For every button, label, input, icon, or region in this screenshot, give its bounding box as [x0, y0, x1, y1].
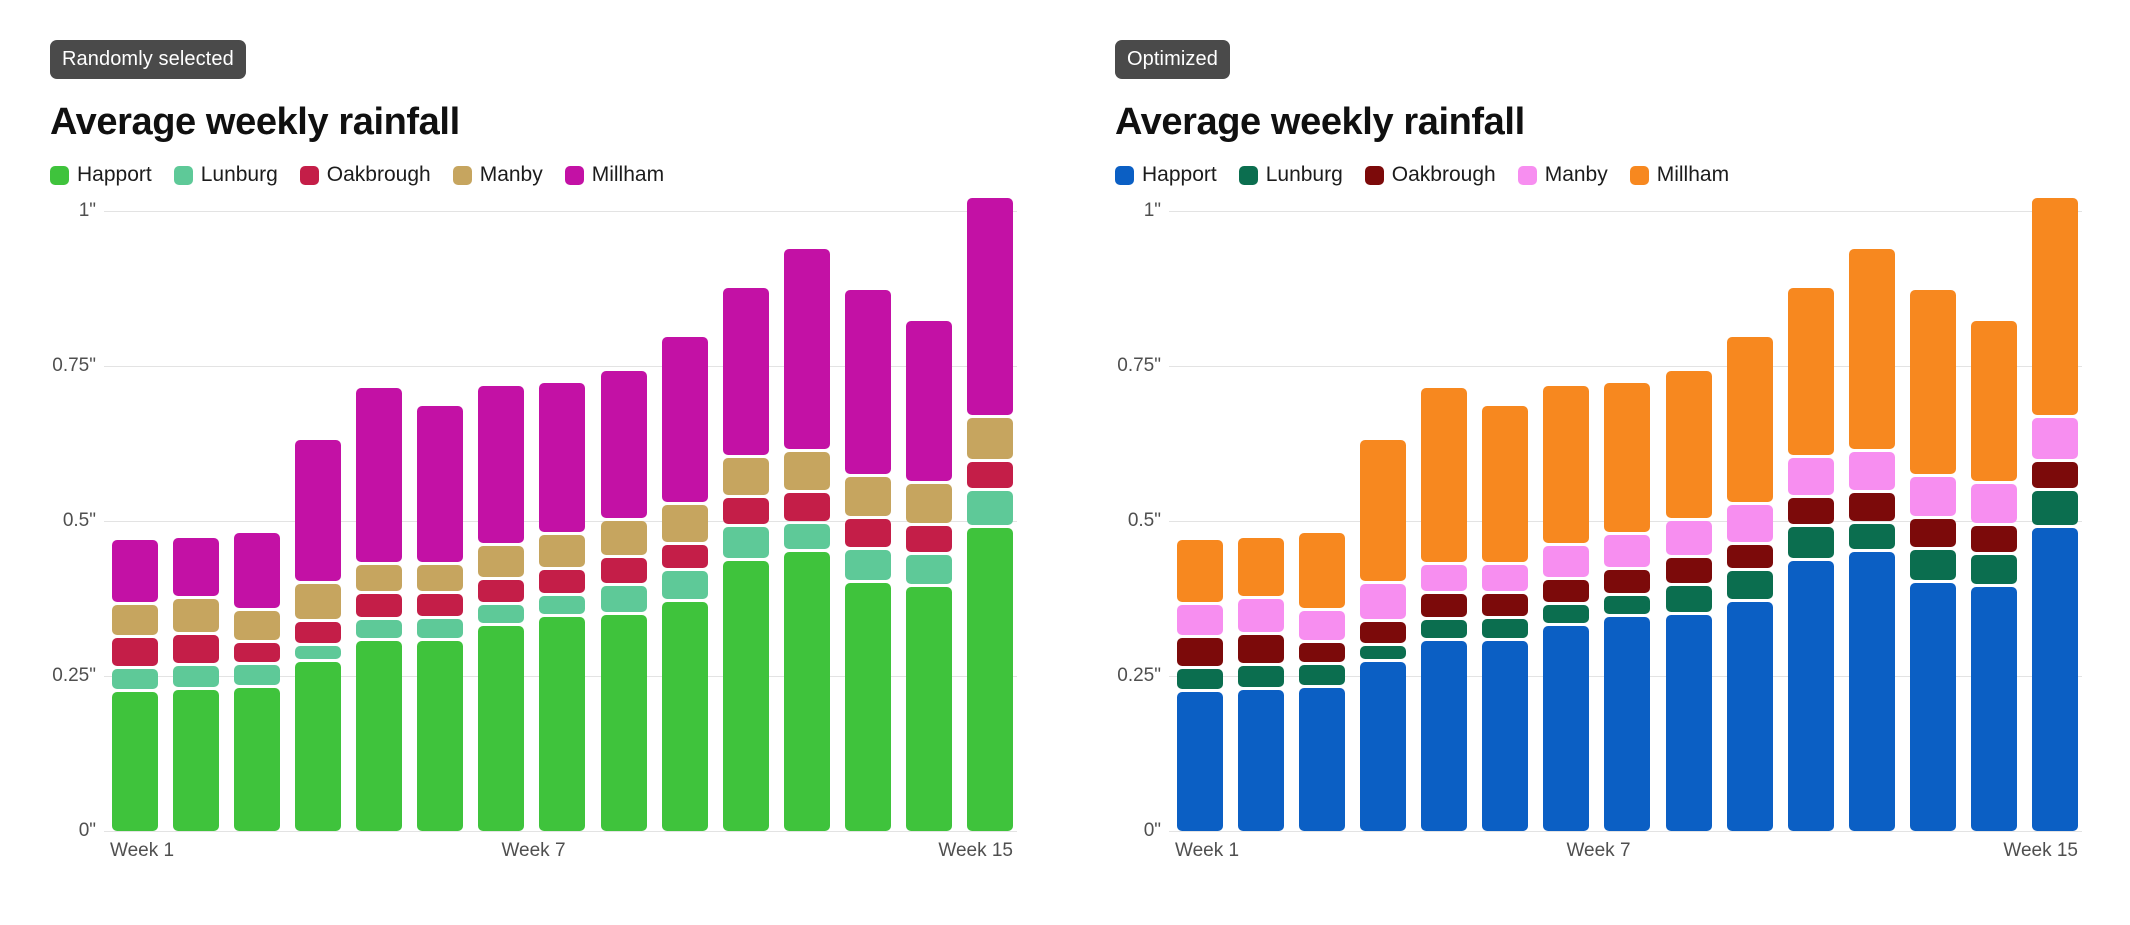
legend-item-label: Happort — [77, 163, 152, 187]
bar-segment-lunburg[interactable] — [1482, 619, 1528, 638]
bar-segment-oakbrough[interactable] — [1421, 594, 1467, 617]
bar-segment-lunburg[interactable] — [1666, 586, 1712, 612]
bar-segment-oakbrough[interactable] — [2032, 462, 2078, 488]
bar-segment-manby[interactable] — [1421, 565, 1467, 591]
bar-segment-manby[interactable] — [1299, 611, 1345, 641]
legend-swatch-icon — [1115, 166, 1134, 185]
bar-segment-happort[interactable] — [967, 528, 1013, 831]
x-axis-right: Week 1Week 7Week 15 — [1115, 840, 2082, 870]
bar-segment-oakbrough[interactable] — [1543, 580, 1589, 602]
bar-segment-lunburg[interactable] — [1299, 665, 1345, 685]
bar-stack[interactable] — [723, 288, 769, 831]
legend-item-millham[interactable]: Millham — [1630, 163, 1729, 187]
legend-swatch-icon — [1630, 166, 1649, 185]
legend-item-label: Manby — [1545, 163, 1608, 187]
legend-item-manby[interactable]: Manby — [453, 163, 543, 187]
bars-left — [106, 211, 1017, 831]
bar-segment-happort[interactable] — [1666, 615, 1712, 831]
chart-legend-right: HapportLunburgOakbroughManbyMillham — [1115, 163, 2082, 187]
bar-segment-millham[interactable] — [1666, 371, 1712, 518]
legend-item-lunburg[interactable]: Lunburg — [174, 163, 278, 187]
bar-segment-happort[interactable] — [1482, 641, 1528, 831]
bar-segment-millham[interactable] — [1299, 533, 1345, 607]
y-axis-tick-label: 1" — [50, 200, 96, 222]
bar-segment-oakbrough[interactable] — [356, 594, 402, 617]
bar-segment-happort[interactable] — [478, 626, 524, 831]
bar-segment-happort[interactable] — [1421, 641, 1467, 831]
bar-segment-happort[interactable] — [417, 641, 463, 831]
bar-segment-happort[interactable] — [1299, 688, 1345, 831]
bar-segment-lunburg[interactable] — [112, 669, 158, 689]
bar-segment-oakbrough[interactable] — [1727, 545, 1773, 568]
bar-segment-manby[interactable] — [1666, 521, 1712, 555]
bar-segment-lunburg[interactable] — [1849, 524, 1895, 549]
bar-segment-millham[interactable] — [173, 538, 219, 596]
bar-segment-lunburg[interactable] — [539, 596, 585, 615]
bar-segment-manby[interactable] — [723, 458, 769, 495]
legend-item-millham[interactable]: Millham — [565, 163, 664, 187]
bar-stack[interactable] — [1910, 290, 1956, 831]
bar-segment-oakbrough[interactable] — [295, 622, 341, 642]
bar-segment-oakbrough[interactable] — [417, 594, 463, 616]
bar-stack[interactable] — [173, 538, 219, 831]
y-axis-tick-label: 0.25" — [1115, 665, 1161, 687]
bar-segment-lunburg[interactable] — [967, 491, 1013, 525]
bar-segment-manby[interactable] — [1482, 565, 1528, 591]
bar-segment-happort[interactable] — [295, 662, 341, 831]
legend-item-label: Millham — [592, 163, 664, 187]
y-axis-tick-label: 0" — [1115, 820, 1161, 842]
bar-segment-millham[interactable] — [1910, 290, 1956, 474]
bar-segment-happort[interactable] — [2032, 528, 2078, 831]
bar-segment-manby[interactable] — [1727, 505, 1773, 542]
bar-stack[interactable] — [112, 540, 158, 831]
legend-item-happort[interactable]: Happort — [1115, 163, 1217, 187]
y-axis-tick-label: 0.5" — [50, 510, 96, 532]
x-axis-tick-label: Week 1 — [110, 840, 174, 862]
legend-item-label: Millham — [1657, 163, 1729, 187]
x-axis-tick-label: Week 7 — [1566, 840, 1630, 862]
legend-swatch-icon — [300, 166, 319, 185]
legend-item-happort[interactable]: Happort — [50, 163, 152, 187]
bar-segment-oakbrough[interactable] — [784, 493, 830, 521]
bar-segment-millham[interactable] — [295, 440, 341, 581]
bar-segment-manby[interactable] — [1360, 584, 1406, 619]
bar-segment-millham[interactable] — [1543, 386, 1589, 542]
bar-segment-millham[interactable] — [234, 533, 280, 607]
bar-segment-happort[interactable] — [906, 587, 952, 831]
bar-segment-millham[interactable] — [1849, 249, 1895, 449]
panel-randomly-selected: Randomly selected Average weekly rainfal… — [0, 0, 1065, 925]
bar-segment-lunburg[interactable] — [417, 619, 463, 638]
bar-segment-oakbrough[interactable] — [539, 570, 585, 592]
y-axis-tick-label: 0" — [50, 820, 96, 842]
legend-swatch-icon — [1239, 166, 1258, 185]
bar-segment-millham[interactable] — [784, 249, 830, 449]
bar-segment-manby[interactable] — [478, 546, 524, 577]
bar-stack[interactable] — [1727, 337, 1773, 831]
bar-segment-lunburg[interactable] — [784, 524, 830, 549]
bar-segment-oakbrough[interactable] — [1788, 498, 1834, 524]
bar-stack[interactable] — [845, 290, 891, 831]
bar-stack[interactable] — [1849, 249, 1895, 831]
bar-segment-oakbrough[interactable] — [1238, 635, 1284, 664]
bar-segment-millham[interactable] — [356, 388, 402, 562]
bar-segment-lunburg[interactable] — [845, 550, 891, 580]
bar-stack[interactable] — [234, 533, 280, 831]
x-axis-tick-label: Week 15 — [938, 840, 1013, 862]
bar-segment-happort[interactable] — [784, 552, 830, 831]
bar-segment-lunburg[interactable] — [295, 646, 341, 660]
bar-segment-manby[interactable] — [112, 605, 158, 635]
bar-segment-lunburg[interactable] — [234, 665, 280, 685]
bar-segment-manby[interactable] — [784, 452, 830, 490]
bar-segment-manby[interactable] — [1238, 599, 1284, 631]
bar-segment-lunburg[interactable] — [1177, 669, 1223, 689]
bar-segment-lunburg[interactable] — [1604, 596, 1650, 615]
bar-segment-lunburg[interactable] — [173, 666, 219, 686]
bar-segment-lunburg[interactable] — [1360, 646, 1406, 660]
legend-item-label: Oakbrough — [1392, 163, 1496, 187]
panel-optimized: Optimized Average weekly rainfall Happor… — [1065, 0, 2130, 925]
bar-stack[interactable] — [906, 321, 952, 831]
bar-segment-oakbrough[interactable] — [1360, 622, 1406, 642]
bar-segment-happort[interactable] — [1177, 692, 1223, 832]
bar-segment-lunburg[interactable] — [723, 527, 769, 558]
bar-segment-manby[interactable] — [967, 418, 1013, 459]
x-axis-left: Week 1Week 7Week 15 — [50, 840, 1017, 870]
bar-segment-lunburg[interactable] — [1727, 571, 1773, 599]
bar-segment-oakbrough[interactable] — [845, 519, 891, 547]
bar-segment-lunburg[interactable] — [1910, 550, 1956, 580]
bar-segment-manby[interactable] — [173, 599, 219, 631]
bar-segment-happort[interactable] — [662, 602, 708, 831]
bar-segment-oakbrough[interactable] — [1849, 493, 1895, 521]
bar-segment-happort[interactable] — [1788, 561, 1834, 831]
bar-segment-happort[interactable] — [1849, 552, 1895, 831]
bar-segment-lunburg[interactable] — [478, 605, 524, 624]
bar-segment-manby[interactable] — [906, 484, 952, 522]
bar-segment-happort[interactable] — [601, 615, 647, 831]
bar-segment-oakbrough[interactable] — [1971, 526, 2017, 552]
bar-segment-millham[interactable] — [906, 321, 952, 481]
legend-swatch-icon — [1365, 166, 1384, 185]
legend-swatch-icon — [453, 166, 472, 185]
legend-item-label: Happort — [1142, 163, 1217, 187]
bar-stack[interactable] — [417, 406, 463, 832]
legend-item-label: Manby — [480, 163, 543, 187]
bar-segment-millham[interactable] — [967, 198, 1013, 415]
legend-swatch-icon — [50, 166, 69, 185]
x-axis-tick-label: Week 1 — [1175, 840, 1239, 862]
bar-segment-happort[interactable] — [234, 688, 280, 831]
x-axis-tick-label: Week 7 — [501, 840, 565, 862]
bar-stack[interactable] — [1299, 533, 1345, 831]
legend-item-oakbrough[interactable]: Oakbrough — [300, 163, 431, 187]
bar-stack[interactable] — [1177, 540, 1223, 831]
bar-segment-lunburg[interactable] — [1238, 666, 1284, 686]
bar-segment-oakbrough[interactable] — [173, 635, 219, 664]
bar-stack[interactable] — [1482, 406, 1528, 832]
bar-segment-millham[interactable] — [723, 288, 769, 455]
bar-segment-oakbrough[interactable] — [1299, 643, 1345, 662]
bar-segment-happort[interactable] — [1238, 690, 1284, 831]
bar-segment-millham[interactable] — [2032, 198, 2078, 415]
bar-segment-manby[interactable] — [1971, 484, 2017, 522]
bar-segment-lunburg[interactable] — [906, 555, 952, 585]
bar-segment-manby[interactable] — [601, 521, 647, 555]
gridline — [1169, 831, 2082, 832]
legend-swatch-icon — [1518, 166, 1537, 185]
bar-segment-oakbrough[interactable] — [478, 580, 524, 602]
bar-stack[interactable] — [784, 249, 830, 831]
bar-segment-oakbrough[interactable] — [1604, 570, 1650, 592]
legend-item-label: Oakbrough — [327, 163, 431, 187]
y-axis-tick-label: 0.75" — [1115, 355, 1161, 377]
bar-stack[interactable] — [539, 383, 585, 831]
bar-stack[interactable] — [478, 386, 524, 831]
legend-item-label: Lunburg — [1266, 163, 1343, 187]
legend-swatch-icon — [565, 166, 584, 185]
y-axis-tick-label: 0.5" — [1115, 510, 1161, 532]
bar-segment-manby[interactable] — [356, 565, 402, 591]
bar-segment-millham[interactable] — [1971, 321, 2017, 481]
bar-stack[interactable] — [1604, 383, 1650, 831]
bar-stack[interactable] — [1360, 440, 1406, 831]
bar-stack[interactable] — [1788, 288, 1834, 831]
legend-swatch-icon — [174, 166, 193, 185]
bar-segment-millham[interactable] — [112, 540, 158, 602]
bar-segment-oakbrough[interactable] — [1482, 594, 1528, 616]
bar-stack[interactable] — [1238, 538, 1284, 831]
legend-item-label: Lunburg — [201, 163, 278, 187]
bar-segment-manby[interactable] — [295, 584, 341, 619]
bar-stack[interactable] — [295, 440, 341, 831]
chart-plot-area-left: 0"0.25"0.5"0.75"1" — [50, 211, 1017, 831]
chart-plot-area-right: 0"0.25"0.5"0.75"1" — [1115, 211, 2082, 831]
legend-item-oakbrough[interactable]: Oakbrough — [1365, 163, 1496, 187]
x-axis-tick-label: Week 15 — [2003, 840, 2078, 862]
bar-segment-happort[interactable] — [1360, 662, 1406, 831]
y-axis-tick-label: 1" — [1115, 200, 1161, 222]
bar-segment-happort[interactable] — [1543, 626, 1589, 831]
legend-item-manby[interactable]: Manby — [1518, 163, 1608, 187]
bar-segment-manby[interactable] — [1788, 458, 1834, 495]
bar-segment-happort[interactable] — [112, 692, 158, 832]
bar-segment-millham[interactable] — [539, 383, 585, 532]
bar-segment-happort[interactable] — [356, 641, 402, 831]
bar-segment-manby[interactable] — [539, 535, 585, 567]
bar-segment-manby[interactable] — [234, 611, 280, 641]
gridline — [104, 831, 1017, 832]
bar-segment-lunburg[interactable] — [601, 586, 647, 612]
bar-segment-millham[interactable] — [1421, 388, 1467, 562]
bar-segment-millham[interactable] — [1604, 383, 1650, 532]
bar-segment-millham[interactable] — [1177, 540, 1223, 602]
page-title-right: Average weekly rainfall — [1115, 101, 2082, 144]
bar-stack[interactable] — [1666, 371, 1712, 831]
bar-segment-millham[interactable] — [601, 371, 647, 518]
bar-segment-oakbrough[interactable] — [662, 545, 708, 568]
bars-right — [1171, 211, 2082, 831]
bar-segment-oakbrough[interactable] — [1177, 638, 1223, 666]
bar-segment-manby[interactable] — [1910, 477, 1956, 516]
bar-segment-oakbrough[interactable] — [967, 462, 1013, 488]
bar-segment-millham[interactable] — [1482, 406, 1528, 562]
variant-badge-left: Randomly selected — [50, 40, 246, 79]
bar-segment-oakbrough[interactable] — [1910, 519, 1956, 547]
bar-segment-manby[interactable] — [2032, 418, 2078, 459]
bar-segment-millham[interactable] — [845, 290, 891, 474]
bar-segment-millham[interactable] — [1727, 337, 1773, 501]
bar-segment-manby[interactable] — [417, 565, 463, 591]
bar-stack[interactable] — [601, 371, 647, 831]
bar-segment-millham[interactable] — [662, 337, 708, 501]
bar-segment-oakbrough[interactable] — [234, 643, 280, 662]
bar-stack[interactable] — [662, 337, 708, 831]
y-axis-tick-label: 0.75" — [50, 355, 96, 377]
bar-segment-happort[interactable] — [539, 617, 585, 831]
bar-stack[interactable] — [1543, 386, 1589, 831]
bar-stack[interactable] — [967, 198, 1013, 831]
bar-stack[interactable] — [356, 388, 402, 831]
bar-segment-lunburg[interactable] — [356, 620, 402, 637]
bar-segment-oakbrough[interactable] — [601, 558, 647, 583]
bar-segment-lunburg[interactable] — [1543, 605, 1589, 624]
y-axis-tick-label: 0.25" — [50, 665, 96, 687]
bar-stack[interactable] — [1971, 321, 2017, 831]
bar-segment-happort[interactable] — [1971, 587, 2017, 831]
bar-segment-oakbrough[interactable] — [1666, 558, 1712, 583]
bar-segment-oakbrough[interactable] — [723, 498, 769, 524]
bar-segment-lunburg[interactable] — [1788, 527, 1834, 558]
bar-segment-manby[interactable] — [1849, 452, 1895, 490]
bar-segment-millham[interactable] — [1360, 440, 1406, 581]
bar-segment-millham[interactable] — [1238, 538, 1284, 596]
chart-legend-left: HapportLunburgOakbroughManbyMillham — [50, 163, 1017, 187]
dual-chart-comparison: Randomly selected Average weekly rainfal… — [0, 0, 2130, 925]
bar-segment-happort[interactable] — [845, 583, 891, 831]
bar-stack[interactable] — [2032, 198, 2078, 831]
bar-segment-manby[interactable] — [662, 505, 708, 542]
legend-item-lunburg[interactable]: Lunburg — [1239, 163, 1343, 187]
bar-segment-happort[interactable] — [1910, 583, 1956, 831]
bar-segment-manby[interactable] — [1604, 535, 1650, 567]
bar-segment-happort[interactable] — [1727, 602, 1773, 831]
bar-segment-millham[interactable] — [478, 386, 524, 542]
page-title-left: Average weekly rainfall — [50, 101, 1017, 144]
bar-segment-lunburg[interactable] — [1971, 555, 2017, 585]
bar-stack[interactable] — [1421, 388, 1467, 831]
bar-segment-happort[interactable] — [173, 690, 219, 831]
bar-segment-oakbrough[interactable] — [112, 638, 158, 666]
bar-segment-oakbrough[interactable] — [906, 526, 952, 552]
bar-segment-happort[interactable] — [1604, 617, 1650, 831]
bar-segment-lunburg[interactable] — [662, 571, 708, 599]
bar-segment-millham[interactable] — [417, 406, 463, 562]
bar-segment-manby[interactable] — [1543, 546, 1589, 577]
bar-segment-lunburg[interactable] — [2032, 491, 2078, 525]
bar-segment-millham[interactable] — [1788, 288, 1834, 455]
variant-badge-right: Optimized — [1115, 40, 1230, 79]
bar-segment-manby[interactable] — [1177, 605, 1223, 635]
bar-segment-happort[interactable] — [723, 561, 769, 831]
bar-segment-lunburg[interactable] — [1421, 620, 1467, 637]
bar-segment-manby[interactable] — [845, 477, 891, 516]
